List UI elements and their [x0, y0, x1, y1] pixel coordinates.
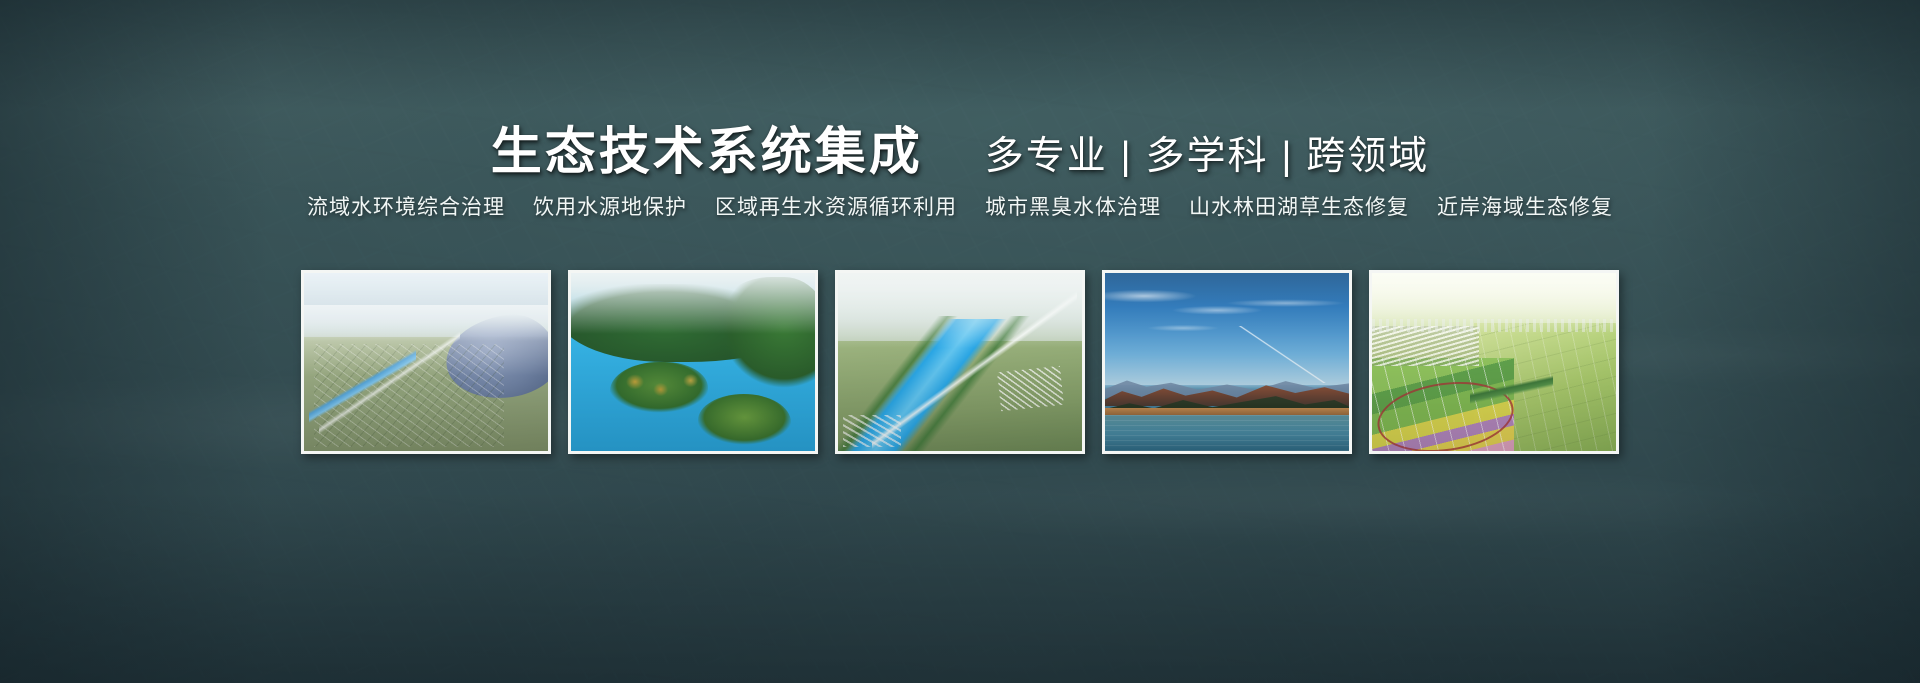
banner-tagline-list: 流域水环境综合治理 饮用水源地保护 区域再生水资源循环利用 城市黑臭水体治理 山…	[0, 191, 1920, 221]
gallery-thumbnail-5[interactable]	[1369, 270, 1619, 454]
banner-headline: 生态技术系统集成 多专业 | 多学科 | 跨领域	[0, 110, 1920, 184]
banner-thumbnail-gallery	[0, 270, 1920, 454]
gallery-thumbnail-3[interactable]	[835, 270, 1085, 454]
thumbnail-image-coastal-plain	[304, 273, 548, 451]
thumbnail-image-farmland-fields	[1372, 273, 1616, 451]
gallery-thumbnail-2[interactable]	[568, 270, 818, 454]
gallery-thumbnail-4[interactable]	[1102, 270, 1352, 454]
tagline-item-4: 城市黑臭水体治理	[985, 191, 1161, 221]
tagline-item-3: 区域再生水资源循环利用	[715, 191, 957, 221]
tagline-item-1: 流域水环境综合治理	[307, 191, 505, 221]
headline-sub-title: 多专业 | 多学科 | 跨领域	[985, 125, 1430, 181]
tagline-item-5: 山水林田湖草生态修复	[1189, 191, 1409, 221]
thumbnail-image-mountain-lake	[1105, 273, 1349, 451]
gallery-thumbnail-1[interactable]	[301, 270, 551, 454]
thumbnail-image-forest-lake	[571, 273, 815, 451]
headline-main-title: 生态技术系统集成	[491, 110, 923, 184]
tagline-item-6: 近岸海域生态修复	[1437, 191, 1613, 221]
hero-banner: 生态技术系统集成 多专业 | 多学科 | 跨领域 流域水环境综合治理 饮用水源地…	[0, 0, 1920, 683]
tagline-item-2: 饮用水源地保护	[533, 191, 687, 221]
thumbnail-image-river-corridor	[838, 273, 1082, 451]
banner-content: 生态技术系统集成 多专业 | 多学科 | 跨领域 流域水环境综合治理 饮用水源地…	[0, 0, 1920, 683]
